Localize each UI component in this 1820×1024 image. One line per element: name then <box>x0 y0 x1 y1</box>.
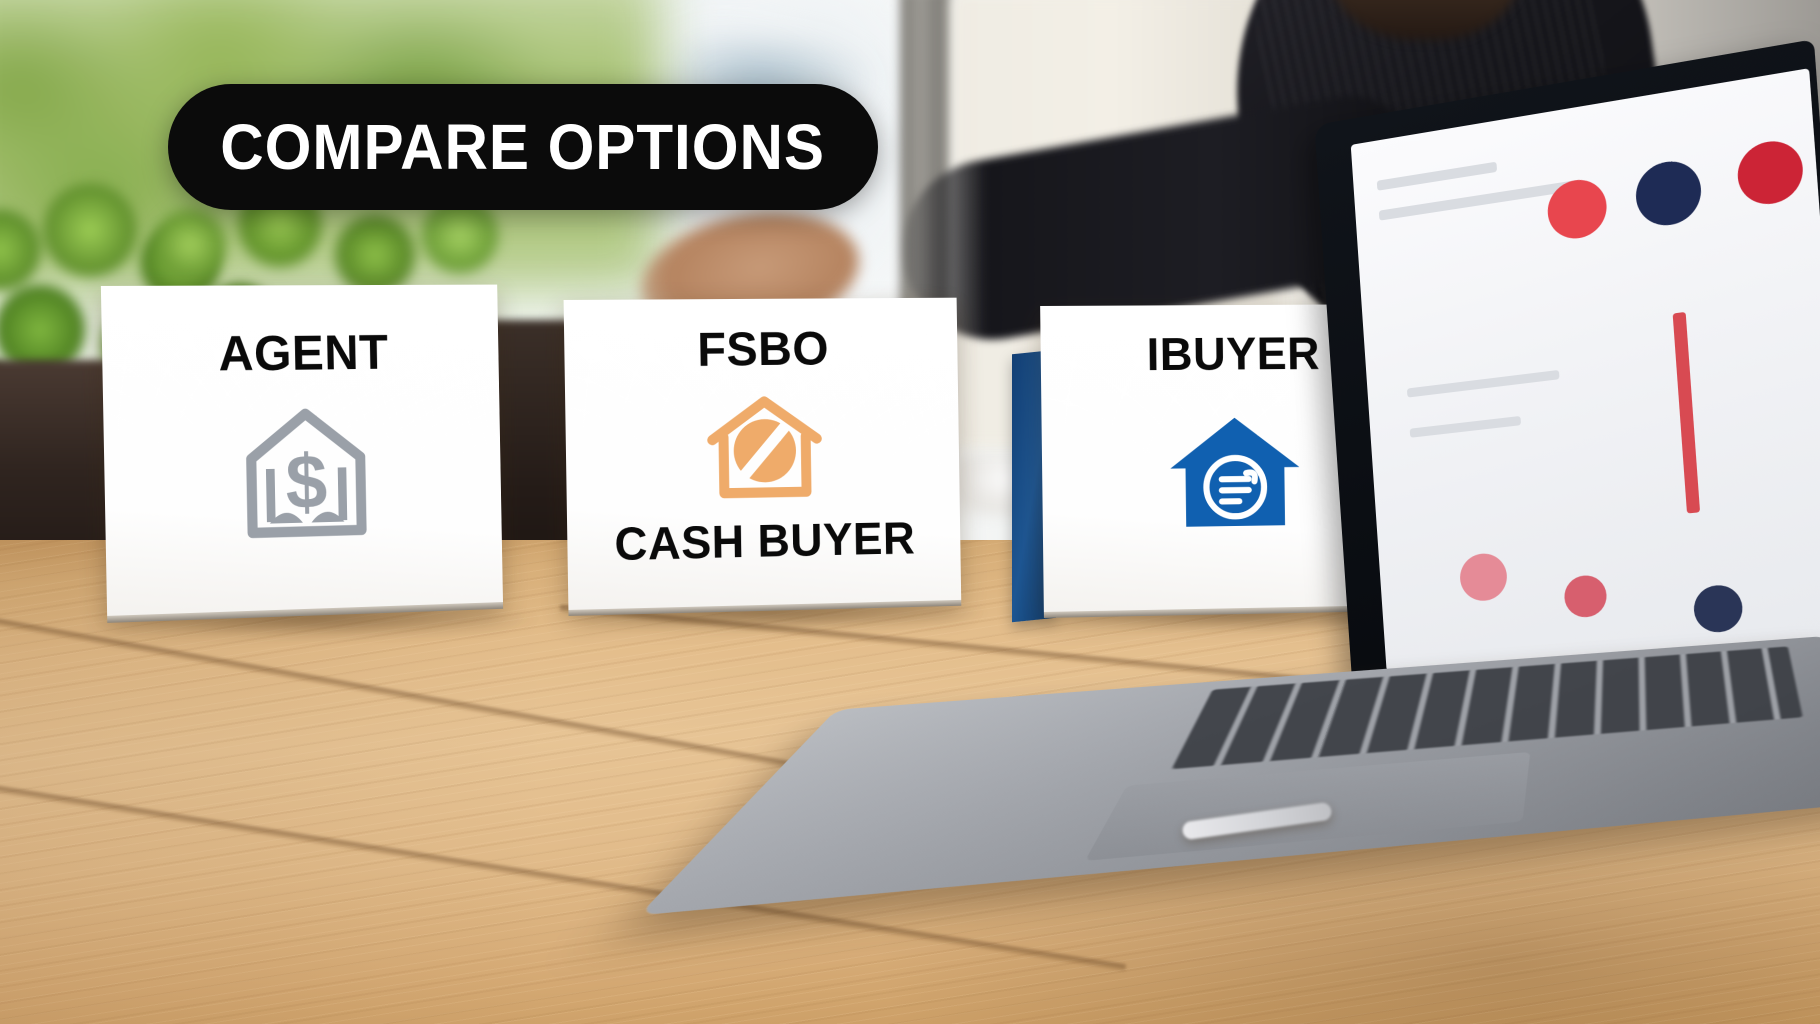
banner-title: COMPARE OPTIONS <box>221 115 826 179</box>
option-card-fsbo[interactable]: FSBO CASH BUYER <box>564 298 962 610</box>
laptop-ui-bar <box>1377 162 1497 191</box>
card-subtitle-fsbo: CASH BUYER <box>614 515 915 567</box>
card-title-ibuyer: IBUYER <box>1146 330 1320 377</box>
laptop-ui-dot-dark <box>1692 583 1744 634</box>
svg-text:$: $ <box>285 440 328 525</box>
laptop-display <box>1351 68 1820 671</box>
compare-options-banner: COMPARE OPTIONS <box>168 84 878 210</box>
house-online-icon <box>1165 405 1304 536</box>
card-title-fsbo: FSBO <box>697 326 829 375</box>
laptop-screen <box>1314 39 1820 680</box>
house-no-agent-icon <box>701 383 827 511</box>
laptop-ui-bar <box>1407 370 1560 398</box>
laptop-ui-bar <box>1673 312 1700 514</box>
laptop-ui-dot-pink <box>1459 552 1509 603</box>
laptop-ui-dot-rose <box>1563 574 1608 619</box>
compare-options-graphic: COMPARE OPTIONS AGENT $ <box>0 0 1820 1024</box>
card-title-agent: AGENT <box>218 328 389 379</box>
option-card-agent[interactable]: AGENT $ <box>101 285 503 616</box>
laptop-ui-bar <box>1410 416 1521 438</box>
house-dollar-icon: $ <box>233 398 379 548</box>
laptop-ui-dot-navy <box>1634 157 1703 230</box>
laptop-ui-dot-crimson <box>1736 137 1805 209</box>
